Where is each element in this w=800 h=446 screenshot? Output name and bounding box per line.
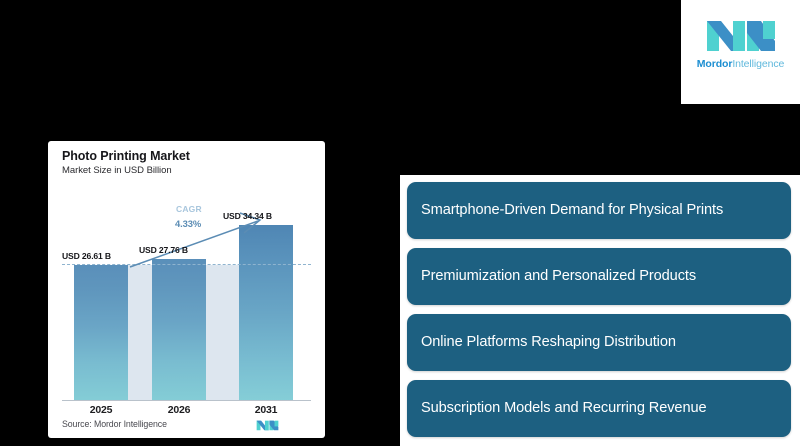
x-tick-2025: 2025 — [74, 404, 128, 416]
chart-plot-area: USD 26.61 B USD 27.76 B USD 34.34 B CAGR… — [62, 201, 311, 401]
insight-card-1-label: Smartphone-Driven Demand for Physical Pr… — [421, 201, 723, 220]
chart-source-label: Source: Mordor Intelligence — [62, 419, 167, 429]
chart-subtitle: Market Size in USD Billion — [62, 165, 172, 176]
bar-value-label-2025: USD 26.61 B — [62, 251, 111, 261]
bar-2026 — [152, 259, 206, 401]
cagr-value: 4.33% — [175, 218, 201, 229]
brand-panel: MordorIntelligence — [681, 0, 800, 104]
bar-2025 — [74, 265, 128, 401]
mordor-m-logo-icon — [705, 13, 777, 53]
mordor-m-logo-icon-small — [256, 418, 279, 431]
insight-card-2[interactable]: Premiumization and Personalized Products — [407, 248, 791, 305]
insight-card-3-label: Online Platforms Reshaping Distribution — [421, 333, 676, 352]
brand-name-bold: Mordor — [697, 58, 733, 70]
chart-title: Photo Printing Market — [62, 149, 190, 163]
brand-name-light: Intelligence — [732, 58, 784, 70]
brand-wordmark: MordorIntelligence — [697, 58, 784, 70]
bar-value-label-2031: USD 34.34 B — [223, 211, 272, 221]
insight-card-1[interactable]: Smartphone-Driven Demand for Physical Pr… — [407, 182, 791, 239]
x-tick-2031: 2031 — [239, 404, 293, 416]
slide-root: MordorIntelligence Photo Printing Market… — [0, 0, 800, 446]
cagr-label: CAGR — [176, 204, 202, 214]
bar-value-label-2026: USD 27.76 B — [139, 245, 188, 255]
x-tick-2026: 2026 — [152, 404, 206, 416]
chart-card: Photo Printing Market Market Size in USD… — [48, 141, 325, 438]
insight-card-3[interactable]: Online Platforms Reshaping Distribution — [407, 314, 791, 371]
insight-card-4-label: Subscription Models and Recurring Revenu… — [421, 399, 707, 418]
insight-card-4[interactable]: Subscription Models and Recurring Revenu… — [407, 380, 791, 437]
insight-cards-panel: Smartphone-Driven Demand for Physical Pr… — [400, 175, 800, 446]
insight-card-2-label: Premiumization and Personalized Products — [421, 267, 696, 286]
x-axis-line — [62, 400, 311, 401]
